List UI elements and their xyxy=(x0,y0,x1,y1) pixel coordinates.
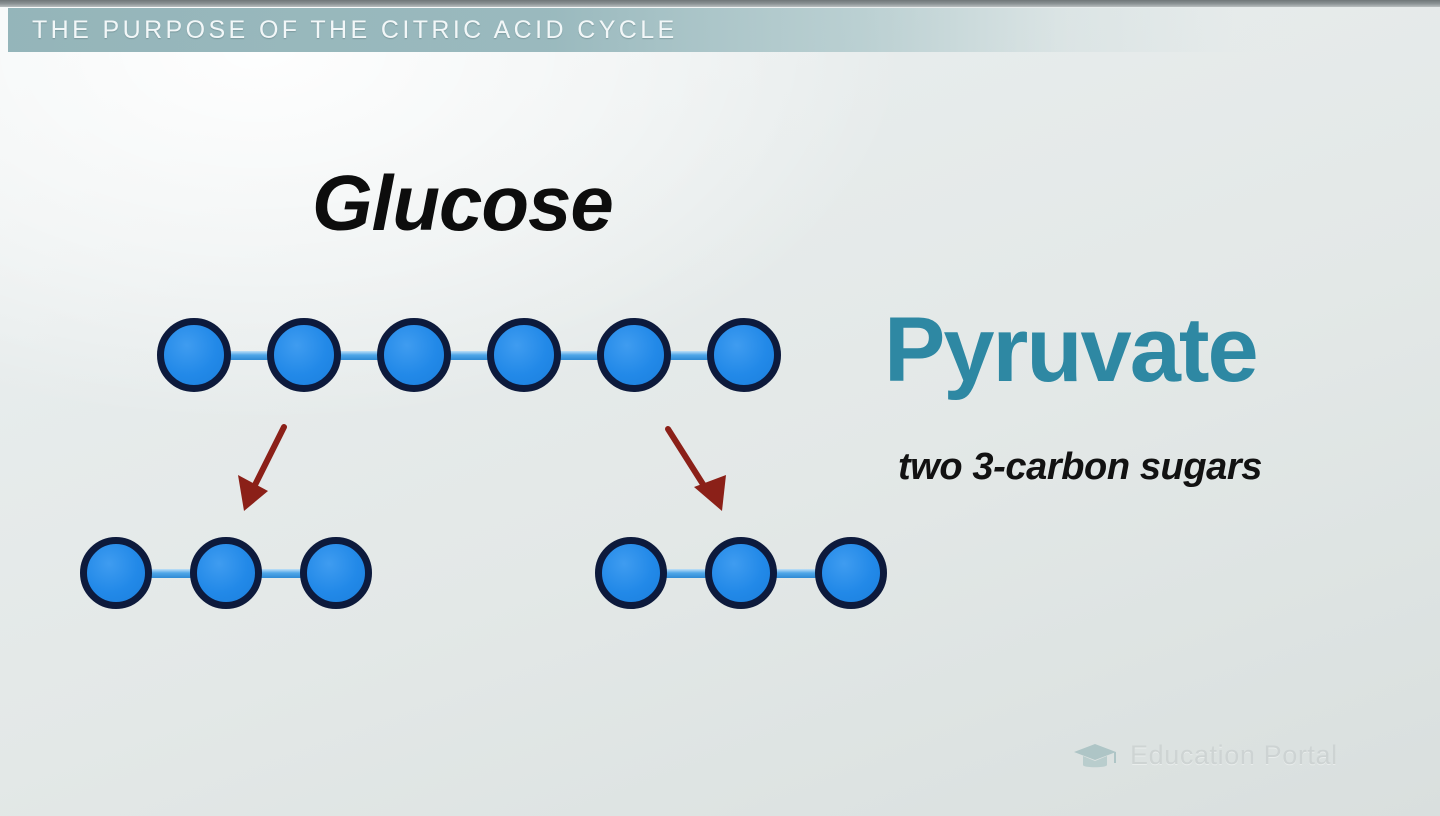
glucose-label: Glucose xyxy=(312,158,613,249)
carbon-atom xyxy=(267,318,341,392)
carbon-bond xyxy=(555,351,603,360)
carbon-bond xyxy=(661,569,711,578)
pyruvate-title: Pyruvate xyxy=(884,298,1257,403)
carbon-atom xyxy=(80,537,152,609)
carbon-atom xyxy=(597,318,671,392)
carbon-atom xyxy=(705,537,777,609)
graduation-cap-icon xyxy=(1072,741,1118,771)
carbon-bond xyxy=(256,569,306,578)
carbon-bond xyxy=(335,351,383,360)
pyruvate-left-carbon-chain xyxy=(80,537,372,609)
slide-canvas: THE PURPOSE OF THE CITRIC ACID CYCLE Glu… xyxy=(0,0,1440,816)
top-bezel-strip xyxy=(0,0,1440,7)
carbon-atom xyxy=(300,537,372,609)
slide-title: THE PURPOSE OF THE CITRIC ACID CYCLE xyxy=(8,16,678,45)
carbon-bond xyxy=(771,569,821,578)
carbon-bond xyxy=(225,351,273,360)
watermark-text: Education Portal xyxy=(1130,740,1338,771)
carbon-bond xyxy=(445,351,493,360)
carbon-atom xyxy=(707,318,781,392)
split-arrow-left-icon xyxy=(222,415,332,525)
watermark: Education Portal xyxy=(1072,740,1338,771)
carbon-atom xyxy=(815,537,887,609)
slide-title-band: THE PURPOSE OF THE CITRIC ACID CYCLE xyxy=(8,8,1298,52)
pyruvate-right-carbon-chain xyxy=(595,537,887,609)
carbon-atom xyxy=(190,537,262,609)
carbon-atom xyxy=(157,318,231,392)
carbon-bond xyxy=(146,569,196,578)
carbon-atom xyxy=(487,318,561,392)
carbon-atom xyxy=(377,318,451,392)
carbon-atom xyxy=(595,537,667,609)
pyruvate-subtitle: two 3-carbon sugars xyxy=(898,446,1262,489)
split-arrow-right-icon xyxy=(648,415,758,525)
glucose-carbon-chain xyxy=(157,318,781,392)
carbon-bond xyxy=(665,351,713,360)
